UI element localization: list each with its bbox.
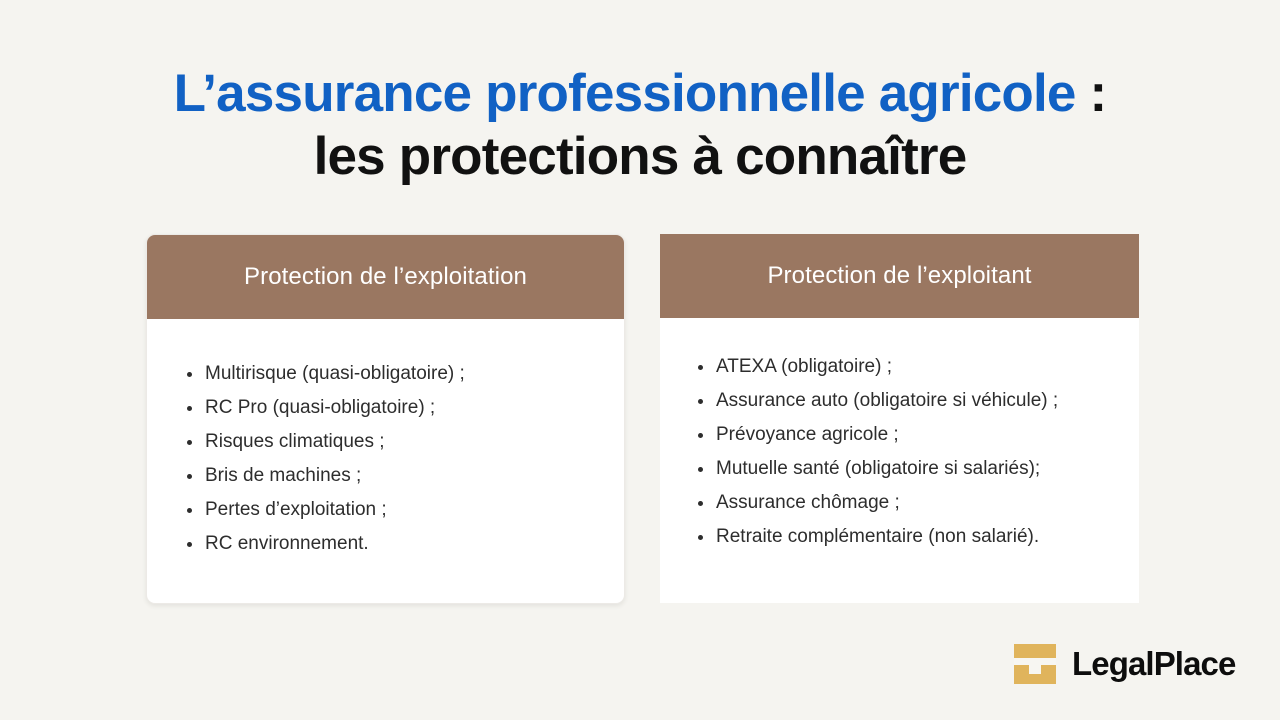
list-item: Assurance chômage ; [660, 486, 1139, 520]
page-title: L’assurance professionnelle agricole : l… [0, 62, 1280, 188]
legalplace-wordmark: LegalPlace [1072, 645, 1235, 683]
list-item: RC environnement. [147, 527, 624, 561]
list-item: Mutuelle santé (obligatoire si salariés)… [660, 452, 1139, 486]
card-header-exploitation: Protection de l’exploitation [147, 235, 624, 319]
title-line-2: les protections à connaître [0, 125, 1280, 188]
list-item: Pertes d’exploitation ; [147, 493, 624, 527]
logo-mark-stem [1029, 658, 1041, 674]
card-protection-exploitation: Protection de l’exploitation Multirisque… [146, 234, 625, 604]
card-body-exploitation: Multirisque (quasi-obligatoire) ; RC Pro… [147, 319, 624, 561]
title-accent-text: L’assurance professionnelle agricole [174, 64, 1076, 123]
legalplace-mark-icon [1014, 644, 1056, 684]
card-header-exploitant: Protection de l’exploitant [660, 234, 1139, 318]
list-item: Assurance auto (obligatoire si véhicule)… [660, 384, 1139, 418]
list-item: ATEXA (obligatoire) ; [660, 350, 1139, 384]
card-header-title: Protection de l’exploitant [767, 261, 1031, 291]
card-body-exploitant: ATEXA (obligatoire) ; Assurance auto (ob… [660, 318, 1139, 554]
card-protection-exploitant: Protection de l’exploitant ATEXA (obliga… [660, 234, 1139, 603]
title-colon: : [1076, 64, 1107, 123]
list-item: Risques climatiques ; [147, 425, 624, 459]
list-item: Retraite complémentaire (non salarié). [660, 520, 1139, 554]
list-item: Multirisque (quasi-obligatoire) ; [147, 357, 624, 391]
list-item: RC Pro (quasi-obligatoire) ; [147, 391, 624, 425]
bullet-list-exploitant: ATEXA (obligatoire) ; Assurance auto (ob… [660, 318, 1139, 554]
title-line-1: L’assurance professionnelle agricole : [0, 62, 1280, 125]
card-header-title: Protection de l’exploitation [244, 262, 527, 292]
list-item: Prévoyance agricole ; [660, 418, 1139, 452]
list-item: Bris de machines ; [147, 459, 624, 493]
bullet-list-exploitation: Multirisque (quasi-obligatoire) ; RC Pro… [147, 319, 624, 561]
legalplace-logo: LegalPlace [1014, 644, 1235, 684]
